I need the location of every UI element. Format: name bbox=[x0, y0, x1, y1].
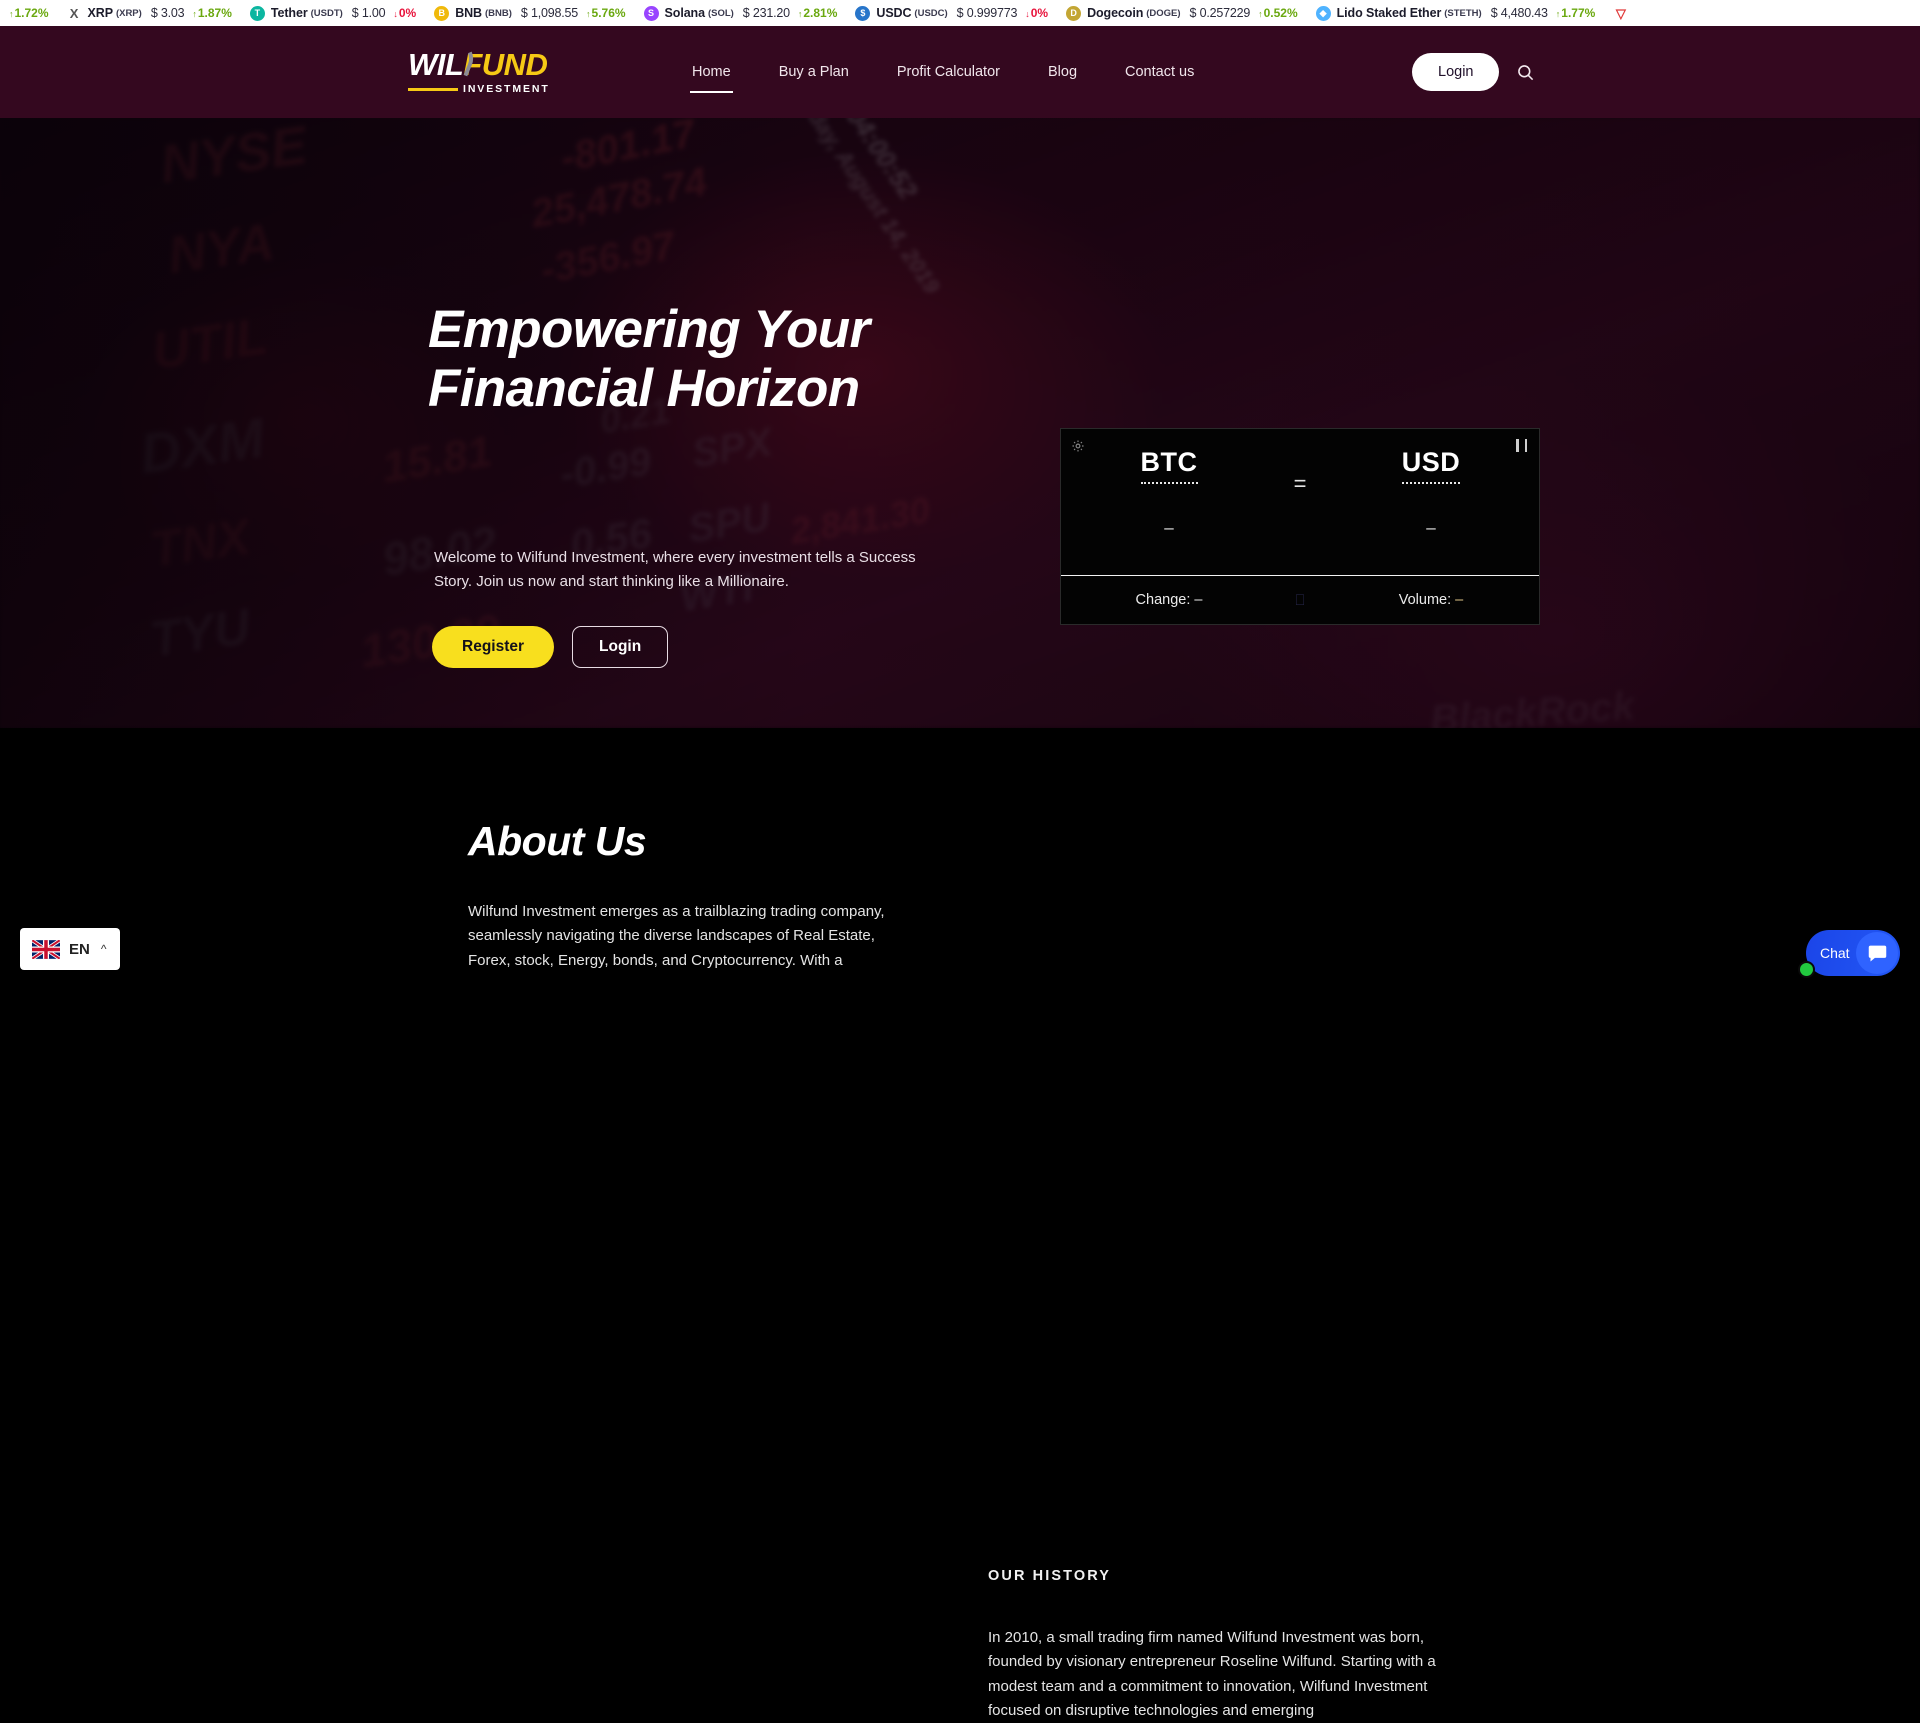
uk-flag-icon bbox=[32, 940, 60, 959]
nav-item-label: Buy a Plan bbox=[779, 64, 849, 80]
converter-to-side: USD – bbox=[1323, 429, 1539, 538]
ticker-item[interactable]: $USDC(USDC)$ 0.999773↓0% bbox=[846, 0, 1057, 26]
converter-to-currency[interactable]: USD bbox=[1402, 447, 1461, 484]
hero-section: NYSENYAUTILDXMTNXTYU-801.1725,478.74-356… bbox=[0, 118, 1920, 728]
history-body: In 2010, a small trading firm named Wilf… bbox=[988, 1626, 1458, 1723]
ticker-coin-symbol: (STETH) bbox=[1444, 8, 1481, 19]
converter-change-value: – bbox=[1194, 592, 1202, 608]
search-icon bbox=[1516, 63, 1535, 82]
chat-widget-button[interactable]: Chat bbox=[1806, 930, 1900, 976]
converter-from-value: – bbox=[1164, 518, 1173, 538]
ticker-item[interactable]: ▽ bbox=[1604, 0, 1643, 26]
converter-change-label: Change: bbox=[1136, 592, 1191, 608]
dogecoin-icon: D bbox=[1066, 6, 1081, 21]
ticker-price: $ 1.00 bbox=[352, 6, 386, 20]
nav-item-contact-us[interactable]: Contact us bbox=[1123, 58, 1196, 86]
ticker-change: ↑5.76% bbox=[586, 6, 626, 20]
ticker-price: $ 231.20 bbox=[743, 6, 790, 20]
chat-bubble-wrapper bbox=[1856, 932, 1898, 974]
chat-online-status-dot bbox=[1798, 961, 1815, 978]
bnb-icon: B bbox=[434, 6, 449, 21]
ticker-item[interactable]: SSolana(SOL)$ 231.20↑2.81% bbox=[635, 0, 847, 26]
tether-icon: T bbox=[250, 6, 265, 21]
ticker-item[interactable]: TTether(USDT)$ 1.00↓0% bbox=[241, 0, 425, 26]
hero-login-button[interactable]: Login bbox=[572, 626, 668, 668]
language-code: EN bbox=[69, 941, 90, 958]
nav-item-home[interactable]: Home bbox=[690, 58, 733, 86]
converter-top: BTC – = USD – bbox=[1061, 429, 1539, 575]
converter-from-currency[interactable]: BTC bbox=[1141, 447, 1198, 484]
ticker-coin-symbol: (USDT) bbox=[311, 8, 343, 19]
language-selector[interactable]: EN ^ bbox=[20, 928, 120, 970]
ticker-price: $ 4,480.43 bbox=[1491, 6, 1548, 20]
ticker-coin-name: Solana bbox=[665, 6, 705, 20]
ticker-coin-name: XRP bbox=[88, 6, 113, 20]
steth-icon: ◆ bbox=[1316, 6, 1331, 21]
chevron-up-icon: ^ bbox=[101, 942, 107, 956]
ticker-item[interactable]: ↑1.72% bbox=[0, 0, 58, 26]
ticker-price: $ 3.03 bbox=[151, 6, 185, 20]
ticker-price: $ 0.257229 bbox=[1190, 6, 1251, 20]
about-column-left: About Us Wilfund Investment emerges as a… bbox=[468, 818, 918, 973]
hero-title: Empowering Your Financial Horizon bbox=[428, 300, 1048, 419]
chat-bubble-icon bbox=[1867, 943, 1888, 964]
hero-subtitle: Welcome to Wilfund Investment, where eve… bbox=[434, 546, 934, 595]
ticker-coin-symbol: (XRP) bbox=[116, 8, 142, 19]
ticker-change: ↑1.72% bbox=[9, 6, 49, 20]
converter-equals-sign: = bbox=[1277, 429, 1323, 495]
ticker-track: ↑1.72%XXRP(XRP)$ 3.03↑1.87%TTether(USDT)… bbox=[0, 0, 1643, 26]
nav-item-profit-calculator[interactable]: Profit Calculator bbox=[895, 58, 1002, 86]
ticker-price: $ 1,098.55 bbox=[521, 6, 578, 20]
register-button[interactable]: Register bbox=[432, 626, 554, 668]
converter-to-value: – bbox=[1426, 518, 1435, 538]
converter-pair: BTC – = USD – bbox=[1061, 429, 1539, 575]
ticker-change: ↑1.87% bbox=[192, 6, 232, 20]
ticker-item[interactable]: XXRP(XRP)$ 3.03↑1.87% bbox=[58, 0, 241, 26]
ticker-coin-name: BNB bbox=[455, 6, 482, 20]
usdc-icon: $ bbox=[855, 6, 870, 21]
converter-change: Change: – bbox=[1061, 592, 1277, 608]
about-heading: About Us bbox=[468, 818, 918, 865]
logo-rule bbox=[408, 88, 458, 91]
ticker-change: ↑1.77% bbox=[1556, 6, 1596, 20]
chat-label: Chat bbox=[1820, 945, 1850, 961]
ticker-change: ↑0.52% bbox=[1258, 6, 1298, 20]
ticker-change: ↓0% bbox=[393, 6, 416, 20]
hero-title-line-2: Financial Horizon bbox=[428, 359, 860, 418]
hero-title-line-1: Empowering Your bbox=[428, 300, 870, 359]
converter-volume: Volume: – bbox=[1323, 592, 1539, 608]
ticker-change: ↓0% bbox=[1025, 6, 1048, 20]
ticker-coin-symbol: (BNB) bbox=[485, 8, 512, 19]
ticker-coin-name: Dogecoin bbox=[1087, 6, 1143, 20]
search-button[interactable] bbox=[1512, 59, 1538, 85]
ticker-change: ↑2.81% bbox=[798, 6, 838, 20]
site-logo[interactable]: WILFUND INVESTMENT bbox=[408, 49, 568, 95]
ticker-price: $ 0.999773 bbox=[957, 6, 1018, 20]
hero-action-buttons: Register Login bbox=[432, 626, 668, 668]
logo-wordmark: WILFUND bbox=[408, 49, 568, 80]
hero-content: Empowering Your Financial Horizon Welcom… bbox=[0, 118, 1920, 728]
nav-item-label: Home bbox=[692, 64, 731, 80]
logo-subtitle-row: INVESTMENT bbox=[408, 83, 568, 95]
about-section: About Us Wilfund Investment emerges as a… bbox=[0, 728, 1920, 993]
nav-item-blog[interactable]: Blog bbox=[1046, 58, 1079, 86]
xrp-icon: X bbox=[67, 6, 82, 21]
converter-middle-glyph: ⎕ bbox=[1277, 592, 1323, 609]
header-login-button[interactable]: Login bbox=[1412, 53, 1499, 91]
site-header: WILFUND INVESTMENT HomeBuy a PlanProfit … bbox=[0, 26, 1920, 118]
ticker-coin-name: Tether bbox=[271, 6, 308, 20]
converter-from-side: BTC – bbox=[1061, 429, 1277, 538]
about-body: Wilfund Investment emerges as a trailbla… bbox=[468, 900, 918, 973]
ticker-item[interactable]: DDogecoin(DOGE)$ 0.257229↑0.52% bbox=[1057, 0, 1307, 26]
solana-icon: S bbox=[644, 6, 659, 21]
crypto-ticker-bar[interactable]: ↑1.72%XXRP(XRP)$ 3.03↑1.87%TTether(USDT)… bbox=[0, 0, 1920, 26]
converter-volume-value: – bbox=[1455, 592, 1463, 608]
ticker-coin-name: USDC bbox=[876, 6, 911, 20]
nav-item-buy-a-plan[interactable]: Buy a Plan bbox=[777, 58, 851, 86]
main-navigation: HomeBuy a PlanProfit CalculatorBlogConta… bbox=[690, 26, 1196, 118]
currency-converter-widget[interactable]: BTC – = USD – Change: – ⎕ Volume: – bbox=[1060, 428, 1540, 625]
history-heading: OUR HISTORY bbox=[988, 1568, 1111, 1584]
nav-item-label: Contact us bbox=[1125, 64, 1194, 80]
converter-volume-label: Volume: bbox=[1399, 592, 1451, 608]
converter-footer: Change: – ⎕ Volume: – bbox=[1061, 575, 1539, 624]
nav-item-label: Profit Calculator bbox=[897, 64, 1000, 80]
tron-icon: ▽ bbox=[1613, 6, 1628, 21]
logo-part-w: W bbox=[408, 47, 437, 82]
logo-subtitle: INVESTMENT bbox=[463, 83, 550, 95]
ticker-coin-symbol: (SOL) bbox=[708, 8, 734, 19]
ticker-coin-symbol: (DOGE) bbox=[1146, 8, 1180, 19]
ticker-item[interactable]: BBNB(BNB)$ 1,098.55↑5.76% bbox=[425, 0, 634, 26]
nav-item-label: Blog bbox=[1048, 64, 1077, 80]
ticker-coin-symbol: (USDC) bbox=[914, 8, 947, 19]
ticker-coin-name: Lido Staked Ether bbox=[1337, 6, 1442, 20]
ticker-item[interactable]: ◆Lido Staked Ether(STETH)$ 4,480.43↑1.77… bbox=[1307, 0, 1605, 26]
logo-part-fund: FUND bbox=[463, 47, 547, 82]
